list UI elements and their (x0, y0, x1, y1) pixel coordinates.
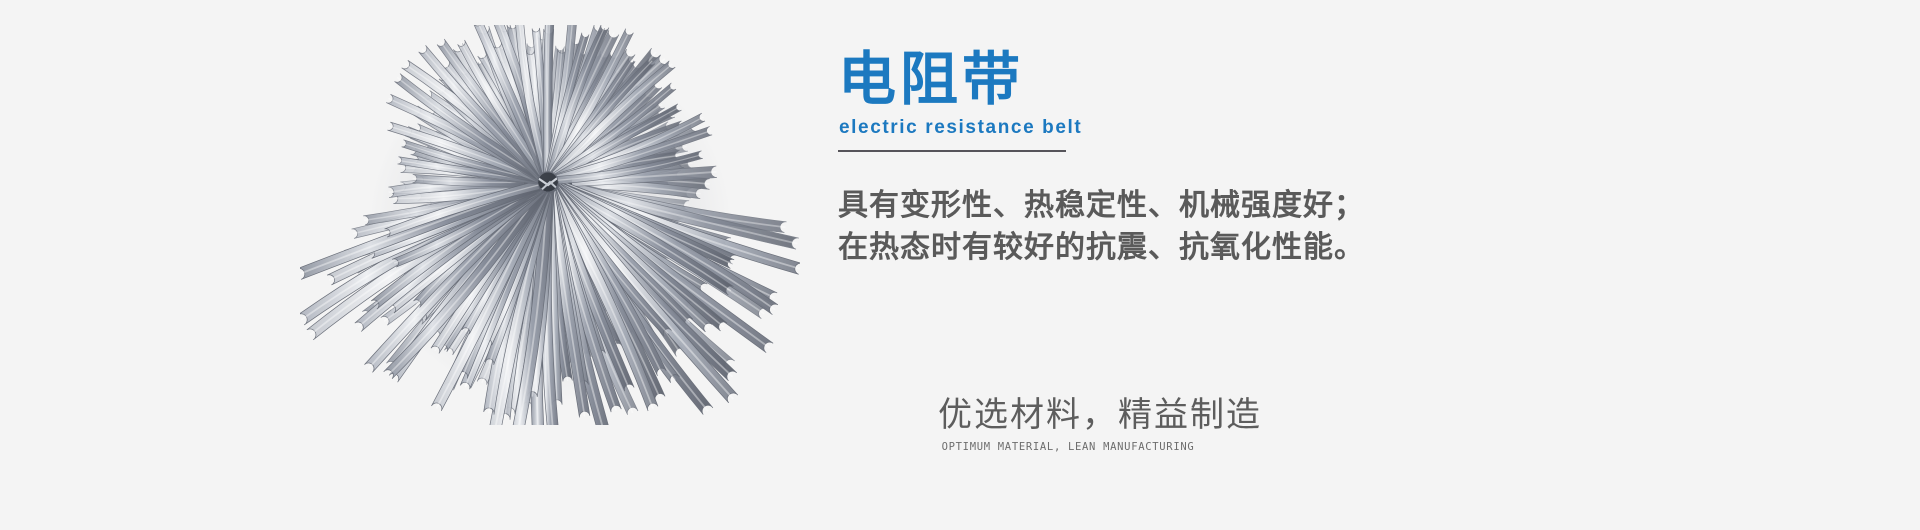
product-banner: 电阻带 electric resistance belt 具有变形性、热稳定性、… (0, 0, 1920, 530)
tagline-block: 优选材料，精益制造 OPTIMUM MATERIAL, LEAN MANUFAC… (938, 394, 1198, 454)
tagline-english: OPTIMUM MATERIAL, LEAN MANUFACTURING (938, 440, 1198, 454)
page-title: 电阻带 (838, 48, 1024, 112)
description-line-1: 具有变形性、热稳定性、机械强度好； (838, 185, 1538, 227)
title-divider (838, 150, 1066, 152)
product-image (300, 25, 800, 425)
description-line-2: 在热态时有较好的抗震、抗氧化性能。 (838, 227, 1538, 269)
page-subtitle: electric resistance belt (839, 117, 1082, 139)
tagline-chinese: 优选材料，精益制造 (938, 394, 1198, 436)
product-description: 具有变形性、热稳定性、机械强度好； 在热态时有较好的抗震、抗氧化性能。 (838, 185, 1538, 269)
